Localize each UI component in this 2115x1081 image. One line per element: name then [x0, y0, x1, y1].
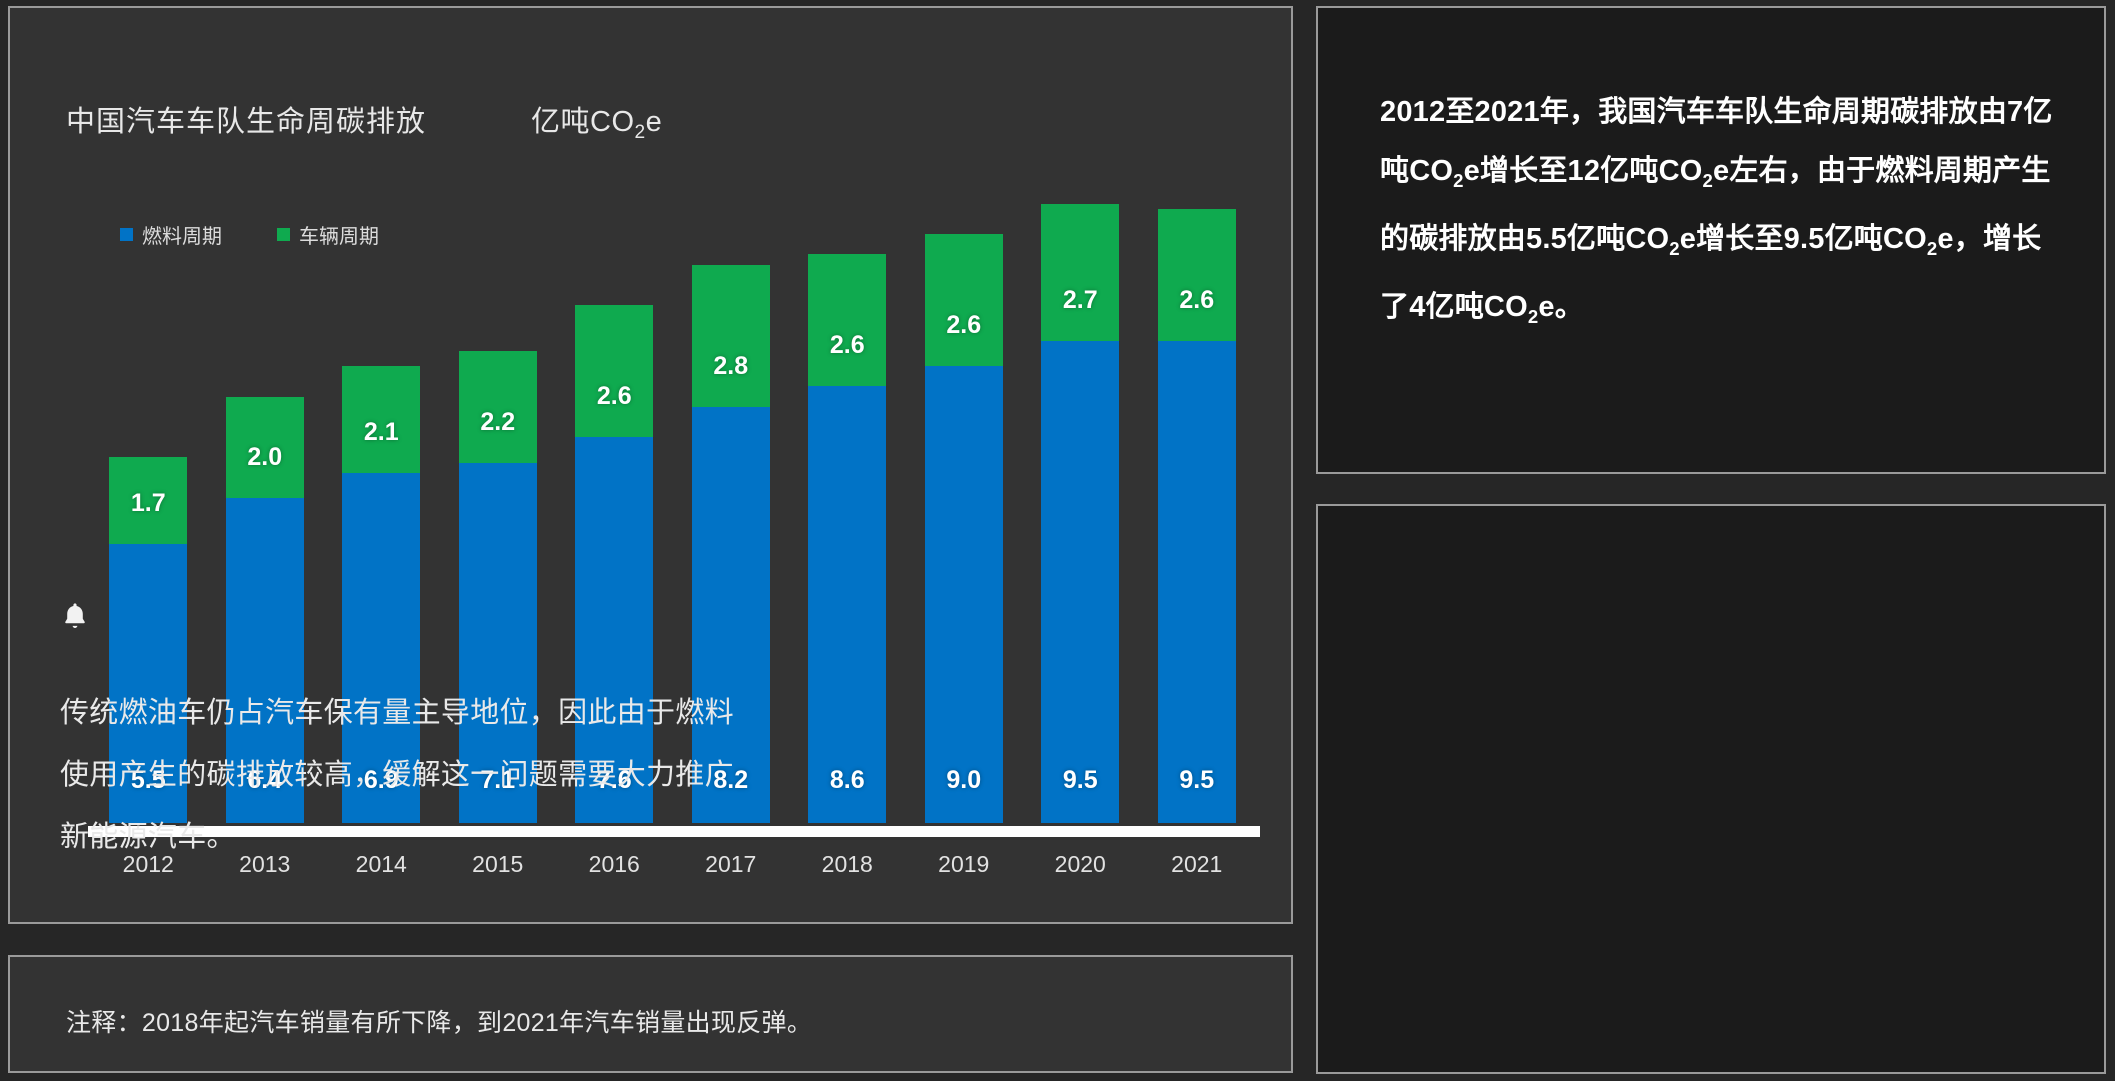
bar-segment-fuel[interactable]: 9.0: [925, 366, 1003, 823]
unit-subscript: 2: [635, 122, 646, 143]
summary-sub-5: 2: [1528, 305, 1539, 326]
x-tick-label: 2018: [789, 851, 906, 878]
bar-group[interactable]: 2.68.6: [808, 254, 886, 823]
bar-value-fuel: 8.6: [808, 766, 886, 795]
bar-group[interactable]: 2.69.0: [925, 234, 1003, 823]
bar-segment-vehicle[interactable]: 2.8: [692, 265, 770, 407]
summary-line-5b: e。: [1538, 291, 1584, 323]
bar-value-vehicle: 2.2: [459, 408, 537, 437]
x-tick-label: 2019: [906, 851, 1023, 878]
summary-line-2c: e: [1713, 155, 1729, 187]
unit-suffix: e: [646, 106, 663, 138]
summary-sub-3: 2: [1669, 238, 1680, 259]
summary-line-1: 2012至2021年，我国汽车车队生命周期: [1380, 96, 1890, 128]
summary-sub-1: 2: [1453, 170, 1464, 191]
infographic-root: 中国汽车车队生命周碳排放 亿吨CO2e 燃料周期车辆周期 1.75.52.06.…: [0, 0, 2115, 1081]
bar-segment-fuel[interactable]: 8.6: [808, 386, 886, 823]
footnote-panel: 注释：2018年起汽车销量有所下降，到2021年汽车销量出现反弹。: [8, 955, 1293, 1073]
bar-segment-vehicle[interactable]: 2.6: [808, 254, 886, 386]
chart-unit-label: 亿吨CO2e: [531, 98, 662, 144]
bar-value-fuel: 9.5: [1158, 766, 1236, 795]
note-text: 传统燃油车仍占汽车保有量主导地位，因此由于燃料使用产生的碳排放较高，缓解这一问题…: [60, 682, 750, 868]
x-tick-label: 2021: [1139, 851, 1256, 878]
bar-segment-vehicle[interactable]: 2.6: [925, 234, 1003, 366]
bar-value-vehicle: 2.6: [925, 311, 1003, 340]
bar-segment-vehicle[interactable]: 1.7: [109, 457, 187, 543]
bell-icon: [58, 600, 92, 634]
summary-sub-2: 2: [1703, 170, 1714, 191]
summary-line-5a: 亿吨CO: [1426, 291, 1528, 323]
bar-segment-vehicle[interactable]: 2.6: [1158, 209, 1236, 341]
bar-segment-vehicle[interactable]: 2.6: [575, 305, 653, 437]
bar-segment-vehicle[interactable]: 2.1: [342, 366, 420, 473]
bar-segment-fuel[interactable]: 9.5: [1158, 341, 1236, 823]
footnote-text: 注释：2018年起汽车销量有所下降，到2021年汽车销量出现反弹。: [66, 1003, 812, 1039]
summary-panel: 2012至2021年，我国汽车车队生命周期碳排放由7亿吨CO2e增长至12亿吨C…: [1316, 6, 2106, 474]
summary-line-4b: e增长至9.5亿吨CO: [1680, 223, 1927, 255]
bar-segment-vehicle[interactable]: 2.2: [459, 351, 537, 463]
bar-group[interactable]: 2.69.5: [1158, 209, 1236, 823]
bar-value-vehicle: 2.0: [226, 443, 304, 472]
chart-header: 中国汽车车队生命周碳排放 亿吨CO2e: [66, 98, 662, 144]
summary-line-2b: e增长至12亿吨CO: [1464, 155, 1703, 187]
chart-title: 中国汽车车队生命周碳排放: [66, 98, 426, 140]
bar-value-vehicle: 2.6: [1158, 286, 1236, 315]
bar-value-fuel: 9.5: [1041, 766, 1119, 795]
bar-value-vehicle: 2.1: [342, 418, 420, 447]
x-tick-label: 2020: [1022, 851, 1139, 878]
summary-sub-4: 2: [1927, 238, 1938, 259]
bar-value-vehicle: 1.7: [109, 489, 187, 518]
summary-line-4a: 亿吨CO: [1567, 223, 1669, 255]
bar-group[interactable]: 2.79.5: [1041, 204, 1119, 823]
bar-value-vehicle: 2.6: [575, 382, 653, 411]
bar-value-vehicle: 2.7: [1041, 286, 1119, 315]
bar-segment-vehicle[interactable]: 2.0: [226, 397, 304, 499]
bar-segment-vehicle[interactable]: 2.7: [1041, 204, 1119, 341]
bar-value-fuel: 9.0: [925, 766, 1003, 795]
note-panel: [1316, 504, 2106, 1074]
summary-text: 2012至2021年，我国汽车车队生命周期碳排放由7亿吨CO2e增长至12亿吨C…: [1380, 83, 2060, 345]
bar-value-vehicle: 2.6: [808, 331, 886, 360]
bar-value-vehicle: 2.8: [692, 352, 770, 381]
bar-segment-fuel[interactable]: 9.5: [1041, 341, 1119, 823]
unit-prefix: 亿吨CO: [531, 106, 635, 138]
